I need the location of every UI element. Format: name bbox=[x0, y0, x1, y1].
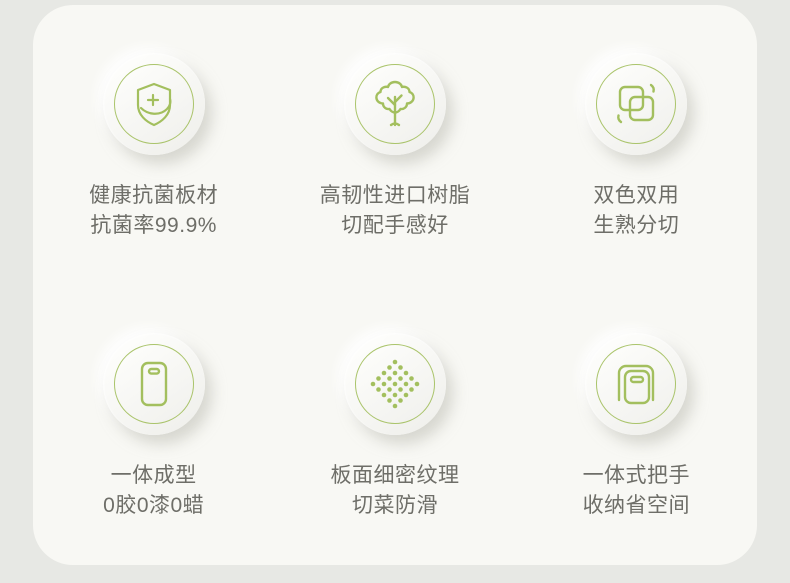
feature-line-1: 一体成型 bbox=[111, 464, 197, 487]
dot-texture-diamond-icon bbox=[344, 333, 446, 435]
board-with-handle-icon bbox=[585, 333, 687, 435]
feature-item-resin[interactable]: 高韧性进口树脂 切配手感好 bbox=[274, 5, 515, 285]
cutting-board-one-piece-icon bbox=[103, 333, 205, 435]
feature-card: 健康抗菌板材 抗菌率99.9% 高韧性进口树脂 切配手感好 bbox=[33, 5, 757, 565]
feature-item-one-piece[interactable]: 一体成型 0胶0漆0蜡 bbox=[33, 285, 274, 565]
feature-item-dual-color[interactable]: 双色双用 生熟分切 bbox=[516, 5, 757, 285]
feature-line-2: 切配手感好 bbox=[320, 211, 471, 241]
feature-line-1: 双色双用 bbox=[593, 184, 679, 207]
feature-line-2: 0胶0漆0蜡 bbox=[103, 491, 204, 521]
feature-grid: 健康抗菌板材 抗菌率99.9% 高韧性进口树脂 切配手感好 bbox=[33, 5, 757, 565]
feature-item-antibacterial[interactable]: 健康抗菌板材 抗菌率99.9% bbox=[33, 5, 274, 285]
feature-text: 双色双用 生熟分切 bbox=[593, 181, 679, 241]
feature-text: 板面细密纹理 切菜防滑 bbox=[330, 461, 459, 521]
feature-text: 高韧性进口树脂 切配手感好 bbox=[320, 181, 471, 241]
tree-icon bbox=[344, 53, 446, 155]
feature-line-2: 生熟分切 bbox=[593, 211, 679, 241]
feature-line-1: 健康抗菌板材 bbox=[89, 184, 218, 207]
feature-text: 一体成型 0胶0漆0蜡 bbox=[103, 461, 204, 521]
feature-text: 一体式把手 收纳省空间 bbox=[583, 461, 691, 521]
two-overlapping-squares-icon bbox=[585, 53, 687, 155]
feature-line-2: 切菜防滑 bbox=[330, 491, 459, 521]
feature-text: 健康抗菌板材 抗菌率99.9% bbox=[89, 181, 218, 241]
feature-line-2: 抗菌率99.9% bbox=[89, 211, 218, 241]
feature-line-2: 收纳省空间 bbox=[583, 491, 691, 521]
feature-item-handle[interactable]: 一体式把手 收纳省空间 bbox=[516, 285, 757, 565]
feature-line-1: 一体式把手 bbox=[583, 464, 691, 487]
shield-antibacterial-icon bbox=[103, 53, 205, 155]
feature-line-1: 板面细密纹理 bbox=[330, 464, 459, 487]
feature-item-texture[interactable]: 板面细密纹理 切菜防滑 bbox=[274, 285, 515, 565]
feature-line-1: 高韧性进口树脂 bbox=[320, 184, 471, 207]
